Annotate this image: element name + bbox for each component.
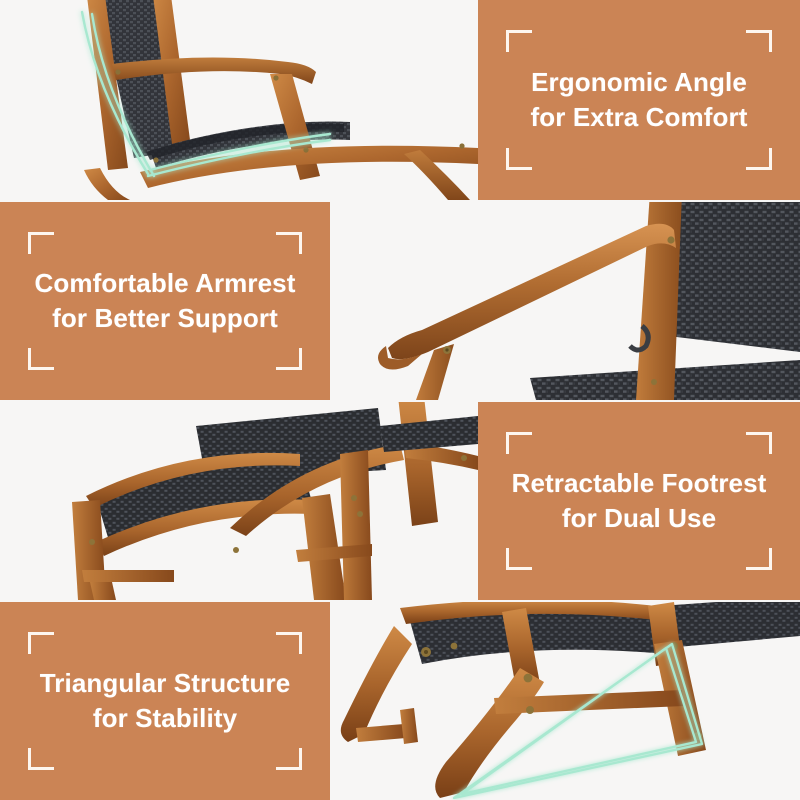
photo-ergonomic-angle	[0, 0, 478, 200]
corner-bracket-top-left-icon	[506, 30, 532, 52]
feature-grid: Ergonomic Angle for Extra Comfort Comfor…	[0, 0, 800, 800]
caption-retractable-footrest: Retractable Footrest for Dual Use	[478, 402, 800, 600]
corner-bracket-bottom-right-icon	[276, 748, 302, 770]
corner-bracket-top-left-icon	[28, 632, 54, 654]
caption-triangular-structure: Triangular Structure for Stability	[0, 602, 330, 800]
corner-bracket-bottom-left-icon	[28, 748, 54, 770]
corner-bracket-top-left-icon	[28, 232, 54, 254]
caption-text-comfortable-armrest: Comfortable Armrest for Better Support	[21, 266, 310, 336]
caption-comfortable-armrest: Comfortable Armrest for Better Support	[0, 202, 330, 400]
photo-triangular-structure	[330, 602, 800, 800]
caption-line-2: for Better Support	[35, 301, 296, 336]
caption-line-1: Ergonomic Angle	[531, 67, 747, 97]
caption-line-2: for Stability	[40, 701, 291, 736]
caption-line-1: Triangular Structure	[40, 668, 291, 698]
photo-footrest	[0, 402, 478, 600]
caption-text-ergonomic-angle: Ergonomic Angle for Extra Comfort	[517, 65, 762, 135]
caption-ergonomic-angle: Ergonomic Angle for Extra Comfort	[478, 0, 800, 200]
photo-armrest	[330, 202, 800, 400]
corner-bracket-top-right-icon	[276, 632, 302, 654]
corner-bracket-bottom-right-icon	[276, 348, 302, 370]
corner-bracket-top-right-icon	[746, 432, 772, 454]
deck-chair-angle-illustration	[0, 0, 478, 200]
caption-line-2: for Extra Comfort	[531, 100, 748, 135]
caption-text-retractable-footrest: Retractable Footrest for Dual Use	[498, 466, 781, 536]
corner-bracket-top-left-icon	[506, 432, 532, 454]
corner-bracket-top-right-icon	[746, 30, 772, 52]
corner-bracket-bottom-left-icon	[28, 348, 54, 370]
caption-text-triangular-structure: Triangular Structure for Stability	[26, 666, 305, 736]
caption-line-1: Comfortable Armrest	[35, 268, 296, 298]
corner-bracket-bottom-right-icon	[746, 148, 772, 170]
corner-bracket-bottom-right-icon	[746, 548, 772, 570]
corner-bracket-top-right-icon	[276, 232, 302, 254]
retractable-footrest-illustration	[0, 402, 478, 600]
armrest-closeup-illustration	[330, 202, 800, 400]
triangular-frame-illustration	[330, 602, 800, 800]
corner-bracket-bottom-left-icon	[506, 148, 532, 170]
caption-line-2: for Dual Use	[512, 501, 767, 536]
corner-bracket-bottom-left-icon	[506, 548, 532, 570]
caption-line-1: Retractable Footrest	[512, 468, 767, 498]
